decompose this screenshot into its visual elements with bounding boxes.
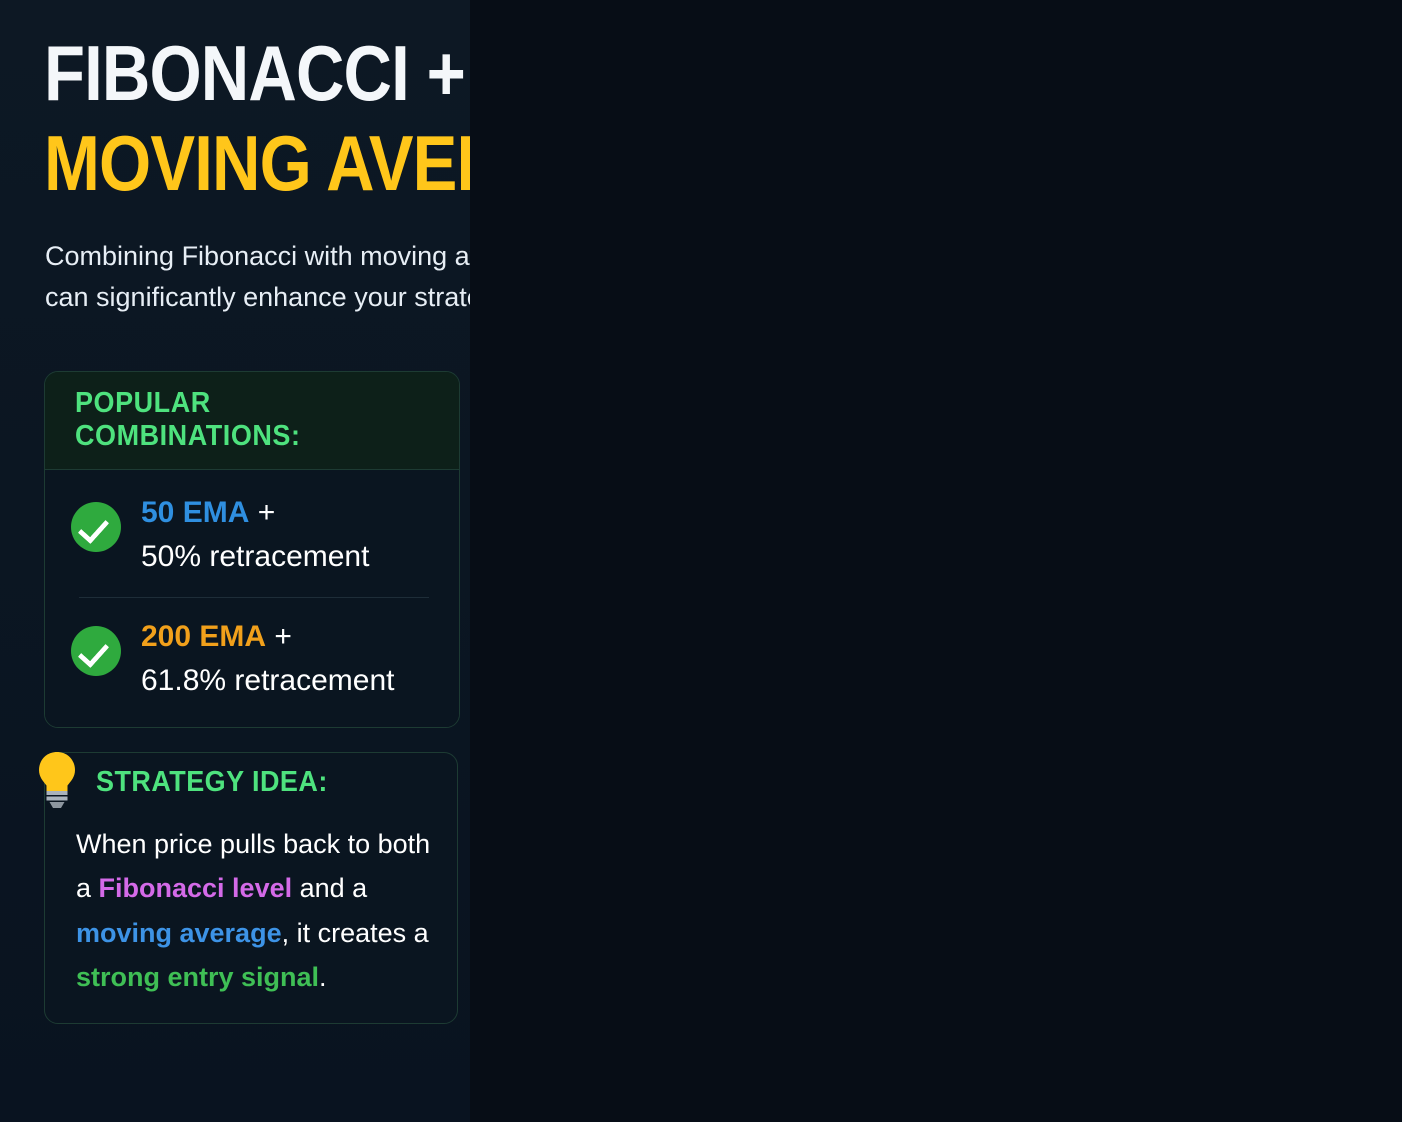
combination-2-retracement: 61.8% retracement — [141, 662, 394, 700]
candle-body — [835, 536, 843, 557]
candle-body — [1035, 402, 1043, 419]
candle-body — [982, 360, 990, 381]
entry-zone-box — [1090, 530, 1190, 568]
y-axis-tick-label: 1.1400 — [1320, 179, 1384, 203]
fib-level-label: 78.6% (1.1070) — [505, 454, 735, 480]
candle-body — [942, 318, 950, 368]
candle-body — [928, 368, 936, 410]
strategy-ma-highlight: moving average — [76, 918, 282, 948]
check-circle-icon — [71, 502, 121, 552]
ema200-badge-leader — [1184, 732, 1210, 736]
strategy-idea-title: STRATEGY IDEA: — [96, 766, 328, 799]
candle-body — [1009, 364, 1017, 372]
x-axis-tick-label: Mar — [545, 1008, 585, 1035]
candle-body — [674, 780, 682, 910]
fib-level-label: 38.2% (1.0685) — [495, 778, 725, 804]
candle-body — [661, 780, 669, 826]
y-axis-tick-label: 1.0700 — [1320, 767, 1384, 791]
candle-body — [1289, 301, 1297, 305]
y-axis-tick-label: 1.0800 — [1320, 683, 1384, 707]
infographic-page: FIBONACCI + MOVING AVERAGES Combining Fi… — [0, 0, 1402, 1122]
callout-leader — [1083, 568, 1181, 589]
candle-body — [594, 885, 602, 910]
combination-2-ema-label: 200 EMA — [141, 620, 266, 653]
candle-body — [567, 822, 575, 839]
page-subtitle: Combining Fibonacci with moving averages… — [45, 236, 605, 318]
fib-level-label: 23.6% (1.0545) — [465, 895, 695, 921]
candle-body — [501, 864, 509, 877]
strong-entry-callout-line-2: SIGNAL — [1104, 630, 1197, 659]
trend-arrow-head — [1222, 368, 1251, 401]
chart-canvas — [470, 0, 1402, 1122]
candle-body — [861, 486, 869, 549]
y-axis-tick-label: 1.1300 — [1320, 263, 1384, 287]
candle-body — [514, 864, 522, 877]
candle-body — [541, 755, 549, 805]
candle-body — [808, 595, 816, 662]
candle-body — [1142, 524, 1150, 558]
y-axis-tick-label: 1.0600 — [1320, 851, 1384, 875]
combination-1-retracement: 50% retracement — [141, 538, 369, 576]
strategy-text-part-3: , it creates a — [282, 918, 429, 948]
candle-body — [768, 679, 776, 696]
candle-body — [1276, 301, 1284, 356]
candle-body — [875, 461, 883, 486]
candle-body — [821, 557, 829, 595]
combination-1-ema-label: 50 EMA — [141, 496, 249, 529]
ema-200-badge[interactable]: 200 EMA — [1210, 716, 1330, 754]
x-axis-tick-label: Jul — [1184, 1008, 1213, 1035]
website-url-text: https://eafxstore.com — [1080, 51, 1345, 84]
y-axis-tick-label: 1.1200 — [1320, 347, 1384, 371]
candle-body — [608, 868, 616, 910]
check-circle-icon — [71, 626, 121, 676]
x-axis-tick-label: Jun — [1018, 1008, 1055, 1035]
strong-entry-callout: STRONG ENTRYSIGNAL — [1051, 589, 1251, 670]
price-chart: 100% (1.1275)78.6% (1.1070)61.8% (1.0915… — [470, 0, 1402, 1122]
fib-level-label: 50% (1.0800) — [475, 681, 705, 707]
popular-combinations-header: POPULAR COMBINATIONS: — [45, 372, 459, 470]
fib-level-label: 100% (1.1275) — [570, 282, 800, 308]
combination-1-plus: + — [249, 496, 275, 529]
x-axis-tick-label: May — [859, 1008, 902, 1035]
globe-icon — [1034, 51, 1066, 83]
strategy-fib-highlight: Fibonacci level — [99, 873, 293, 903]
candle-body — [714, 830, 722, 876]
strategy-signal-highlight: strong entry signal — [76, 962, 319, 992]
candle-body — [688, 864, 696, 910]
candle-body — [701, 830, 709, 864]
candle-body — [955, 318, 963, 339]
y-axis-tick-label: 1.1000 — [1320, 515, 1384, 539]
combination-2-plus: + — [266, 620, 292, 653]
candle-body — [554, 751, 562, 822]
candle-body — [1075, 473, 1083, 502]
candle-body — [1182, 557, 1190, 607]
y-axis-tick-label: 1.1100 — [1321, 431, 1384, 455]
candle-body — [1169, 557, 1177, 591]
candle-body — [888, 461, 896, 490]
candle-body — [1115, 473, 1123, 494]
candle-body — [527, 805, 535, 864]
combination-item-2: 200 EMA + 61.8% retracement — [45, 618, 459, 701]
page-title-line-1: FIBONACCI + — [44, 38, 465, 110]
candle-body — [781, 696, 789, 709]
candle-body — [1262, 356, 1270, 390]
candle-body — [1156, 557, 1164, 591]
strategy-text-part-2: and a — [292, 873, 367, 903]
candle-body — [581, 839, 589, 885]
candle-body — [1236, 419, 1244, 448]
candle-body — [741, 713, 749, 805]
strategy-text-part-4: . — [319, 962, 327, 992]
candle-body — [968, 339, 976, 381]
candle-body — [995, 360, 1003, 373]
popular-combinations-card: POPULAR COMBINATIONS: 50 EMA + 50% retra… — [44, 371, 460, 728]
page-title-line-2: MOVING AVERAGES — [44, 128, 691, 200]
ema50-badge-leader — [1212, 509, 1236, 512]
candle-body — [634, 839, 642, 864]
y-axis-tick-label: 1.0900 — [1320, 599, 1384, 623]
candle-body — [1102, 473, 1110, 481]
combination-divider — [79, 597, 429, 598]
ema-50-badge[interactable]: 50 EMA — [1236, 492, 1343, 530]
combination-item-1: 50 EMA + 50% retracement — [45, 494, 459, 577]
candle-body — [648, 826, 656, 864]
website-url-badge[interactable]: https://eafxstore.com — [1012, 36, 1386, 98]
candle-body — [1089, 482, 1097, 503]
candle-body — [1022, 364, 1030, 419]
ema-200-line — [505, 704, 1294, 880]
popular-combinations-title: POPULAR COMBINATIONS: — [75, 387, 432, 453]
candle-body — [848, 536, 856, 549]
strong-entry-callout-line-1: STRONG ENTRY — [1054, 601, 1249, 630]
candle-body — [795, 662, 803, 708]
candle-body — [1049, 402, 1057, 440]
candle-body — [1249, 389, 1257, 418]
fib-dashed-trendline — [678, 294, 949, 1090]
candle-body — [1222, 448, 1230, 532]
x-axis-tick-label: Apr — [707, 1008, 743, 1035]
fib-level-label: 0% (1.0325) — [485, 1080, 715, 1106]
lightbulb-icon — [33, 748, 81, 810]
ema-50-line — [505, 496, 1294, 852]
fib-level-label: 61.8% (1.0915) — [495, 584, 725, 610]
candle-body — [755, 679, 763, 713]
candle-body — [902, 452, 910, 490]
strategy-idea-text: When price pulls back to both a Fibonacc… — [76, 822, 436, 999]
y-axis-tick-label: 1.0500 — [1320, 935, 1384, 959]
candle-body — [1062, 440, 1070, 474]
candle-body — [1129, 494, 1137, 523]
candle-body — [1209, 532, 1217, 540]
candle-body — [915, 410, 923, 452]
candle-body — [621, 839, 629, 868]
candle-body — [728, 805, 736, 876]
trend-arrow-shaft — [1133, 383, 1240, 565]
candle-body — [1196, 541, 1204, 608]
